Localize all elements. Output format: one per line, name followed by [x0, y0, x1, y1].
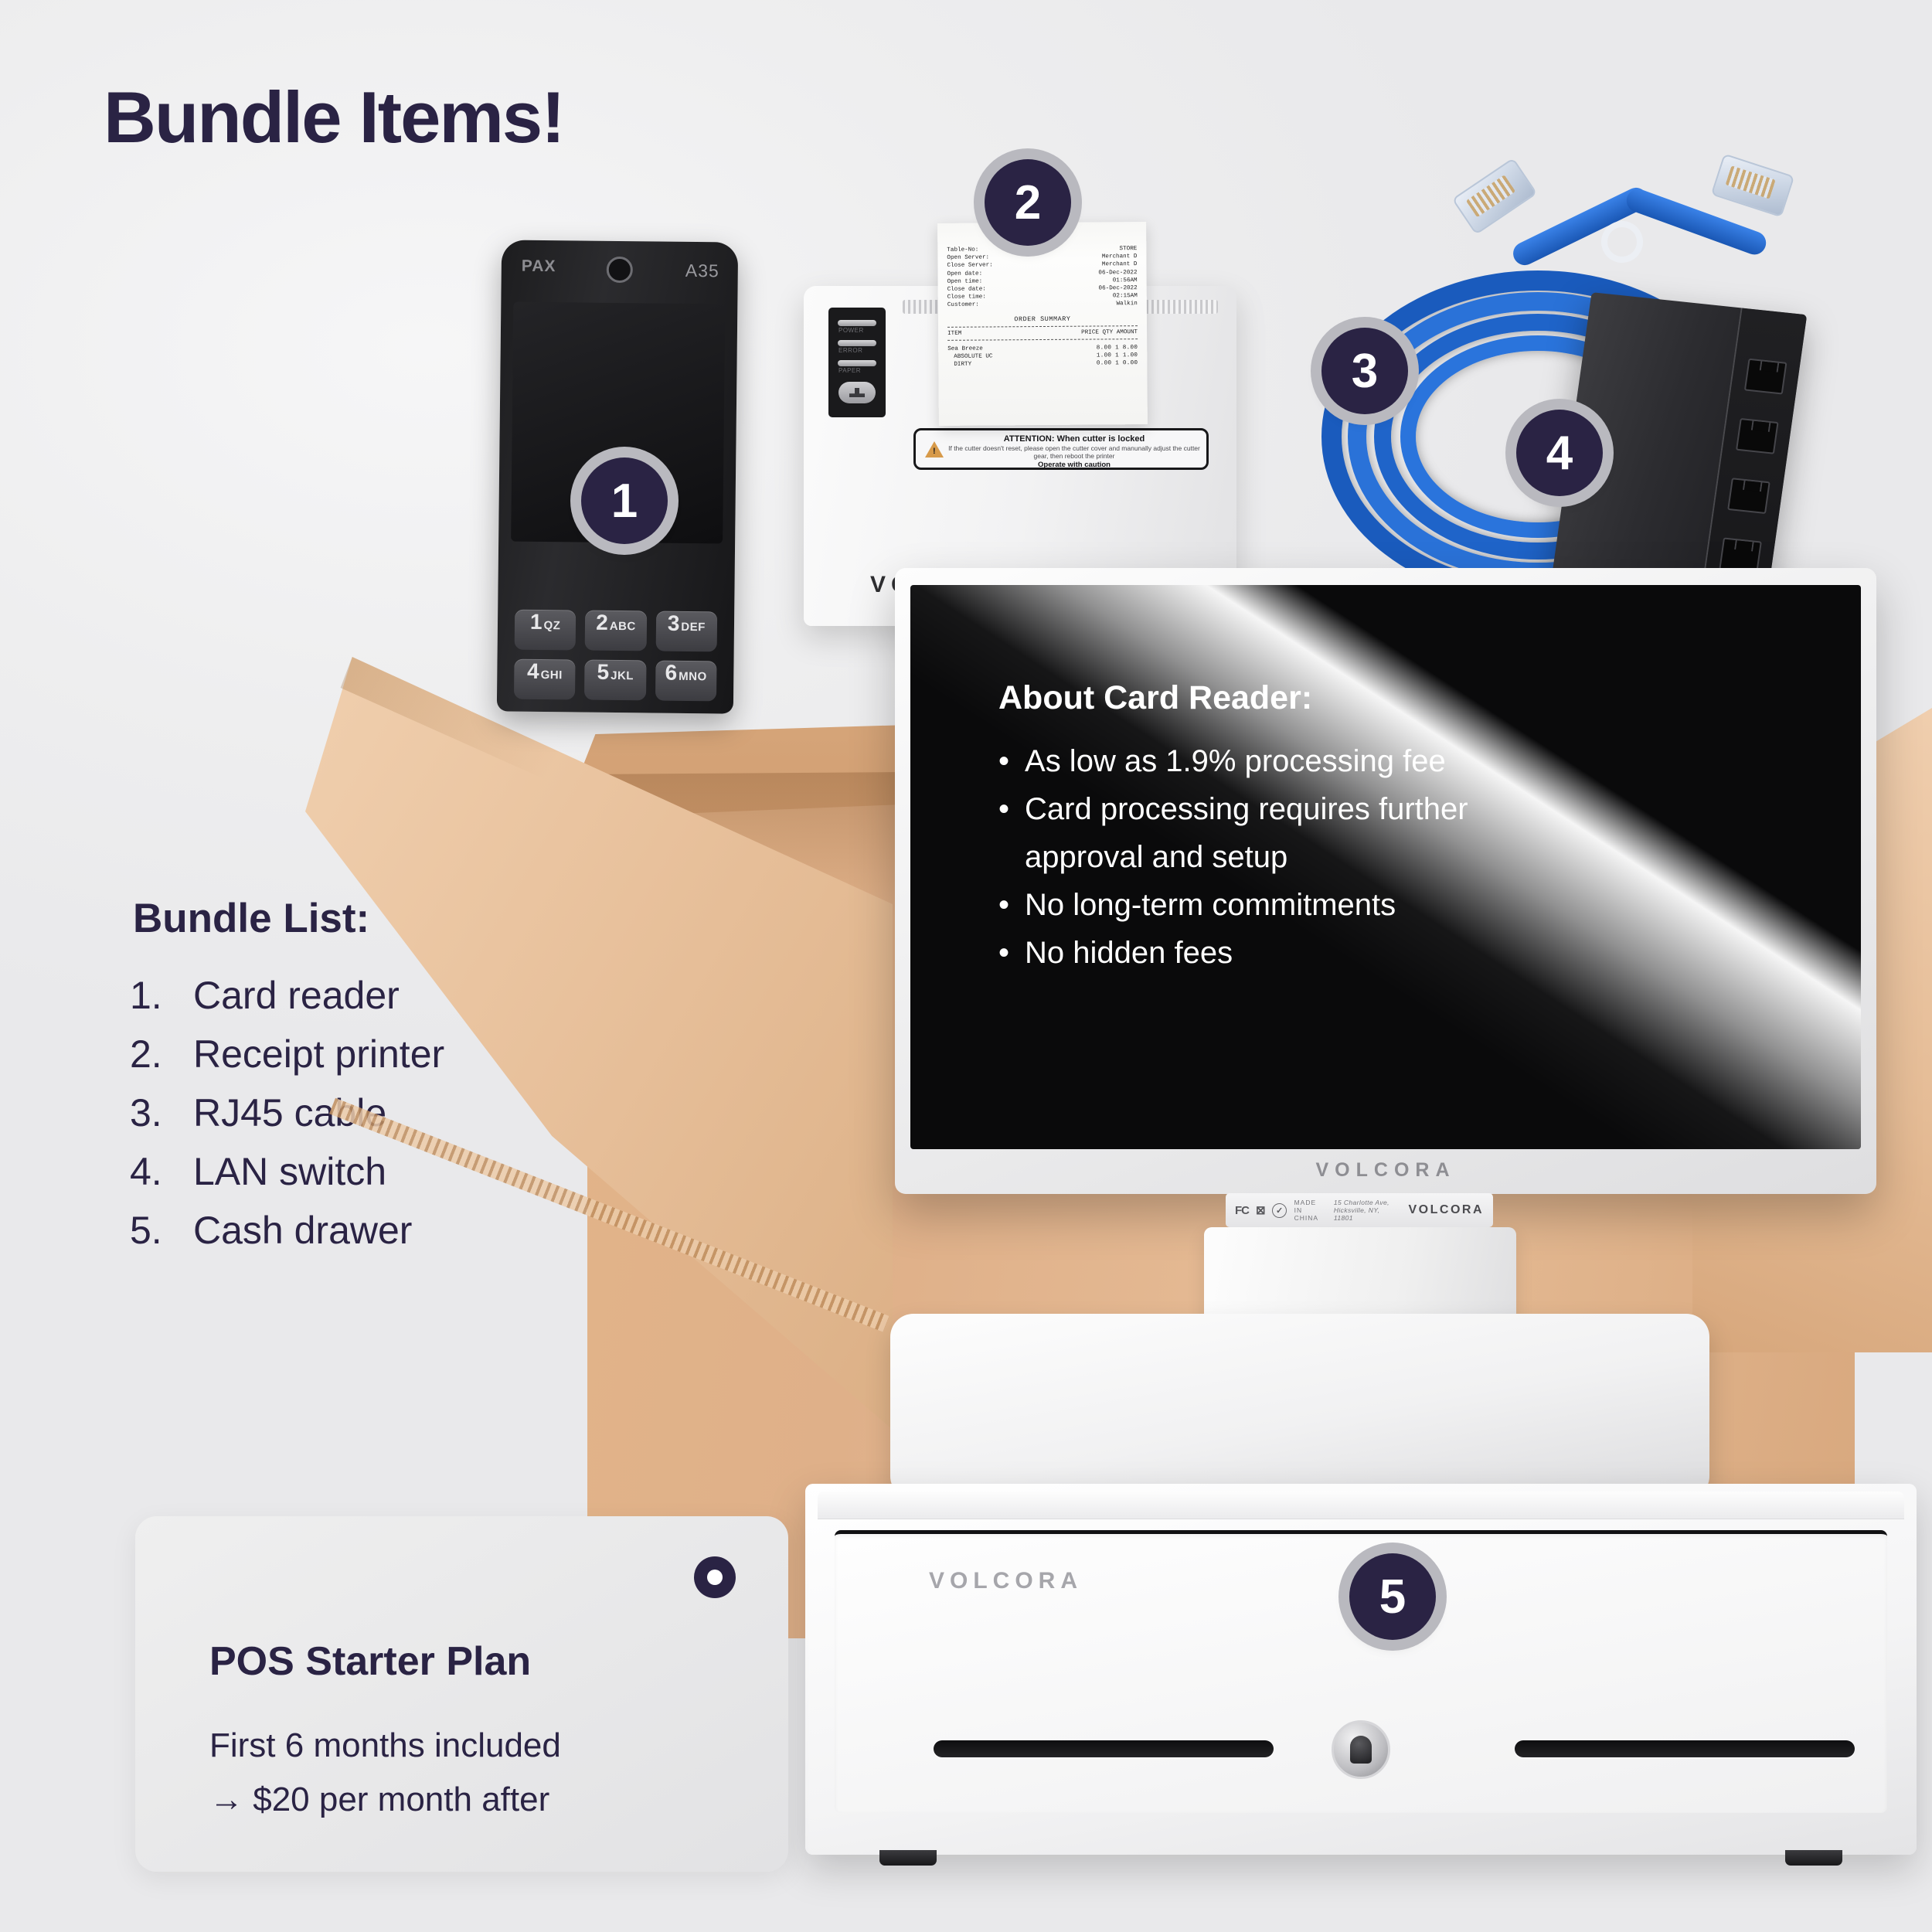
- pos-starter-plan-card[interactable]: POS Starter Plan First 6 months included…: [135, 1516, 788, 1872]
- bullet-dot-icon: •: [998, 737, 1009, 785]
- bullet-dot-icon: •: [998, 881, 1009, 929]
- receipt-field-label: Customer:: [947, 301, 979, 309]
- key-digit: 2: [596, 611, 608, 635]
- plan-detail-line-2: → $20 per month after: [209, 1781, 549, 1819]
- receipt-field-label: Close time:: [947, 294, 986, 302]
- screen-bullet: • As low as 1.9% processing fee: [998, 737, 1586, 785]
- cash-drawer-brand-logo: VOLCORA: [929, 1568, 1083, 1594]
- receipt-item-amounts: 0.00 1 0.00: [1097, 360, 1138, 369]
- error-led-icon: [838, 340, 876, 346]
- poster-canvas: Bundle Items! Bundle List: 1. Card reade…: [0, 0, 1932, 1932]
- receipt-column-header: ITEM PRICE QTY AMOUNT: [947, 328, 1138, 338]
- receipt-col-item: ITEM: [947, 330, 961, 338]
- keypad-key[interactable]: 5 JKL: [584, 660, 646, 701]
- rohs-icon: ✓: [1272, 1203, 1287, 1218]
- screen-bullet-text: No hidden fees: [1025, 929, 1233, 977]
- stand-brand-logo: VOLCORA: [1409, 1203, 1485, 1217]
- card-reader-top-bezel: PAX A35: [501, 240, 738, 302]
- page-title: Bundle Items!: [104, 76, 564, 159]
- receipt-divider: [947, 325, 1138, 328]
- screen-bullet-text: As low as 1.9% processing fee: [1025, 737, 1446, 785]
- receipt-field-value: Walkin: [1116, 301, 1137, 308]
- paper-led-icon: [838, 360, 876, 366]
- printer-control-panel: POWER ERROR PAPER: [828, 308, 886, 417]
- receipt-field: Customer: Walkin: [947, 301, 1138, 310]
- made-in-label: MADE IN CHINA: [1294, 1199, 1326, 1222]
- callout-badge-4[interactable]: 4: [1516, 410, 1603, 496]
- key-letters: JKL: [611, 669, 634, 682]
- monitor-screen[interactable]: About Card Reader: • As low as 1.9% proc…: [910, 585, 1861, 1149]
- screen-bullet-text: No long-term commitments: [1025, 881, 1396, 929]
- keypad-key[interactable]: 6 MNO: [655, 661, 717, 702]
- ethernet-port-icon: [1727, 478, 1770, 514]
- rj45-connector-icon: [1452, 158, 1538, 235]
- pax-logo: PAX: [522, 257, 556, 276]
- key-letters: MNO: [679, 670, 707, 683]
- cash-drawer-foot: [879, 1850, 937, 1866]
- printer-attention-label: ATTENTION: When cutter is locked If the …: [913, 428, 1209, 470]
- screen-bullet: • No hidden fees: [998, 929, 1586, 977]
- receipt-field-label: Close date:: [947, 286, 986, 294]
- company-address: 15 Charlotte Ave, Hicksville, NY, 11801: [1334, 1199, 1401, 1222]
- screen-text-block: About Card Reader: • As low as 1.9% proc…: [998, 679, 1586, 977]
- receipt-divider: [947, 338, 1138, 341]
- keypad-key[interactable]: 1 QZ: [515, 610, 577, 651]
- receipt-field-value: Merchant D: [1102, 261, 1138, 270]
- printed-receipt: Table-No: STORE Open Server: Merchant D …: [937, 222, 1148, 426]
- receipt-item-name: Sea Breeze: [947, 345, 983, 354]
- receipt-item-name: ABSOLUTE UC: [954, 353, 992, 362]
- callout-badge-2[interactable]: 2: [985, 159, 1071, 246]
- receipt-field-value: 02:15AM: [1113, 292, 1138, 300]
- keyhole-lock-icon[interactable]: [1332, 1720, 1390, 1779]
- keypad-key[interactable]: 3 DEF: [655, 611, 717, 652]
- ethernet-port-icon: [1736, 418, 1779, 454]
- plan-title: POS Starter Plan: [209, 1638, 531, 1685]
- receipt-section-title: ORDER SUMMARY: [947, 315, 1138, 324]
- monitor-brand-logo: VOLCORA: [1316, 1159, 1456, 1182]
- receipt-field-value: 01:56AM: [1113, 277, 1138, 284]
- key-digit: 3: [668, 611, 680, 636]
- attention-heading: ATTENTION: When cutter is locked: [948, 434, 1200, 444]
- plan-detail-line-1: First 6 months included: [209, 1726, 561, 1765]
- key-digit: 6: [665, 661, 677, 685]
- receipt-field-value: Merchant D: [1102, 253, 1138, 261]
- cash-drawer-handle-slot[interactable]: [1515, 1740, 1855, 1757]
- monitor-compliance-sticker: FC ⊠ ✓ MADE IN CHINA 15 Charlotte Ave, H…: [1226, 1193, 1493, 1227]
- receipt-field-label: Table-No:: [947, 247, 978, 254]
- keypad-key[interactable]: 4 GHI: [514, 659, 576, 700]
- monitor-stand-base: [890, 1314, 1709, 1499]
- key-digit: 1: [530, 610, 543, 634]
- compliance-marks: FC ⊠ ✓: [1235, 1203, 1287, 1218]
- error-led-label: ERROR: [838, 347, 862, 354]
- key-letters: DEF: [681, 621, 706, 634]
- attention-body: If the cutter doesn't reset, please open…: [948, 444, 1200, 460]
- feed-arrow-icon: [849, 388, 865, 397]
- warning-triangle-icon: [925, 441, 944, 457]
- key-digit: 5: [597, 660, 609, 685]
- power-led-icon: [838, 320, 876, 326]
- receipt-item-name: DIRTY: [954, 361, 971, 369]
- key-letters: GHI: [541, 668, 563, 682]
- key-letters: ABC: [610, 620, 636, 633]
- bullet-dot-icon: •: [998, 929, 1009, 977]
- cash-drawer-foot: [1785, 1850, 1842, 1866]
- power-led-label: POWER: [838, 327, 864, 334]
- screen-title: About Card Reader:: [998, 679, 1586, 717]
- receipt-field-value: 06-Dec-2022: [1099, 284, 1138, 293]
- screen-bullet-list: • As low as 1.9% processing fee • Card p…: [998, 737, 1586, 977]
- callout-badge-3[interactable]: 3: [1321, 328, 1408, 414]
- cash-drawer-top-lip: [818, 1492, 1904, 1519]
- callout-badge-5[interactable]: 5: [1349, 1553, 1436, 1640]
- receipt-field-label: Open time:: [947, 277, 983, 286]
- receipt-field-value: 06-Dec-2022: [1098, 269, 1137, 277]
- bullet-dot-icon: •: [998, 785, 1009, 881]
- camera-icon: [607, 257, 633, 283]
- card-reader-model: A35: [685, 260, 719, 281]
- weee-bin-icon: ⊠: [1256, 1203, 1265, 1217]
- receipt-col-rest: PRICE QTY AMOUNT: [1081, 328, 1138, 337]
- ring-dot-icon: [694, 1556, 736, 1598]
- screen-bullet: • Card processing requires further appro…: [998, 785, 1586, 881]
- ethernet-port-icon: [1744, 359, 1787, 395]
- receipt-field-value: STORE: [1119, 245, 1137, 253]
- key-letters: QZ: [543, 619, 560, 632]
- receipt-field-label: Open date:: [947, 270, 983, 278]
- receipt-field-label: Open Server:: [947, 254, 989, 263]
- fcc-icon: FC: [1235, 1204, 1249, 1217]
- keyhole-core: [1350, 1736, 1372, 1764]
- screen-bullet-text: Card processing requires further approva…: [1025, 785, 1586, 881]
- paper-feed-button[interactable]: [838, 382, 876, 403]
- receipt-item-amounts: 1.00 1 1.00: [1097, 352, 1138, 360]
- key-digit: 4: [527, 659, 539, 684]
- cash-drawer-handle-slot[interactable]: [934, 1740, 1274, 1757]
- keypad-key[interactable]: 2 ABC: [585, 611, 647, 651]
- screen-bullet: • No long-term commitments: [998, 881, 1586, 929]
- receipt-line-item: DIRTY 0.00 1 0.00: [947, 360, 1138, 369]
- card-reader-keypad: 1 QZ 2 ABC 3 DEF 4 GHI 5 JKL 6 MNO: [514, 610, 717, 702]
- cash-drawer: VOLCORA: [805, 1484, 1917, 1855]
- rj45-connector-icon: [1711, 154, 1795, 218]
- pos-monitor: About Card Reader: • As low as 1.9% proc…: [895, 568, 1876, 1194]
- callout-badge-1[interactable]: 1: [581, 457, 668, 544]
- receipt-field-label: Close Server:: [947, 262, 992, 270]
- receipt-item-amounts: 8.00 1 8.00: [1097, 344, 1138, 352]
- paper-led-label: PAPER: [838, 367, 861, 374]
- attention-footer: Operate with caution: [948, 461, 1200, 469]
